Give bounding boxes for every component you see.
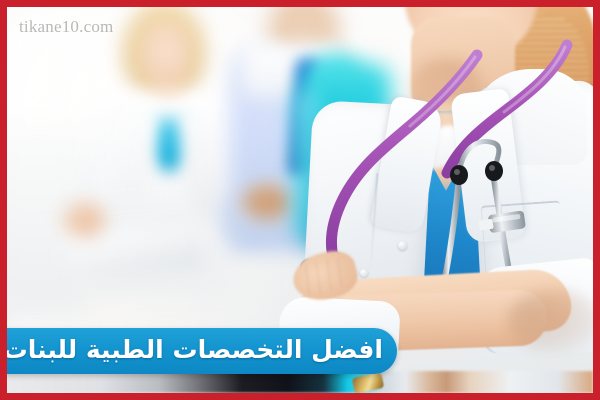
doctor-elbow-shadow [507,289,593,353]
doctor-lab-coat-button-upper [398,241,407,250]
title-banner: افضل التخصصات الطبية للبنات [7,328,397,374]
banner-title-text: افضل التخصصات الطبية للبنات [7,337,383,365]
watermark: tikane10.com [19,17,113,37]
photograph: tikane10.com افضل التخصصات الطبية للبنات [7,7,593,393]
background-blonde-doctor-hand [65,203,105,237]
bottom-blur-strip [7,371,593,393]
background-male-doctor-hand [243,185,291,219]
doctor-lab-coat-button-lower [360,269,368,277]
poster-image: tikane10.com افضل التخصصات الطبية للبنات [0,0,600,400]
